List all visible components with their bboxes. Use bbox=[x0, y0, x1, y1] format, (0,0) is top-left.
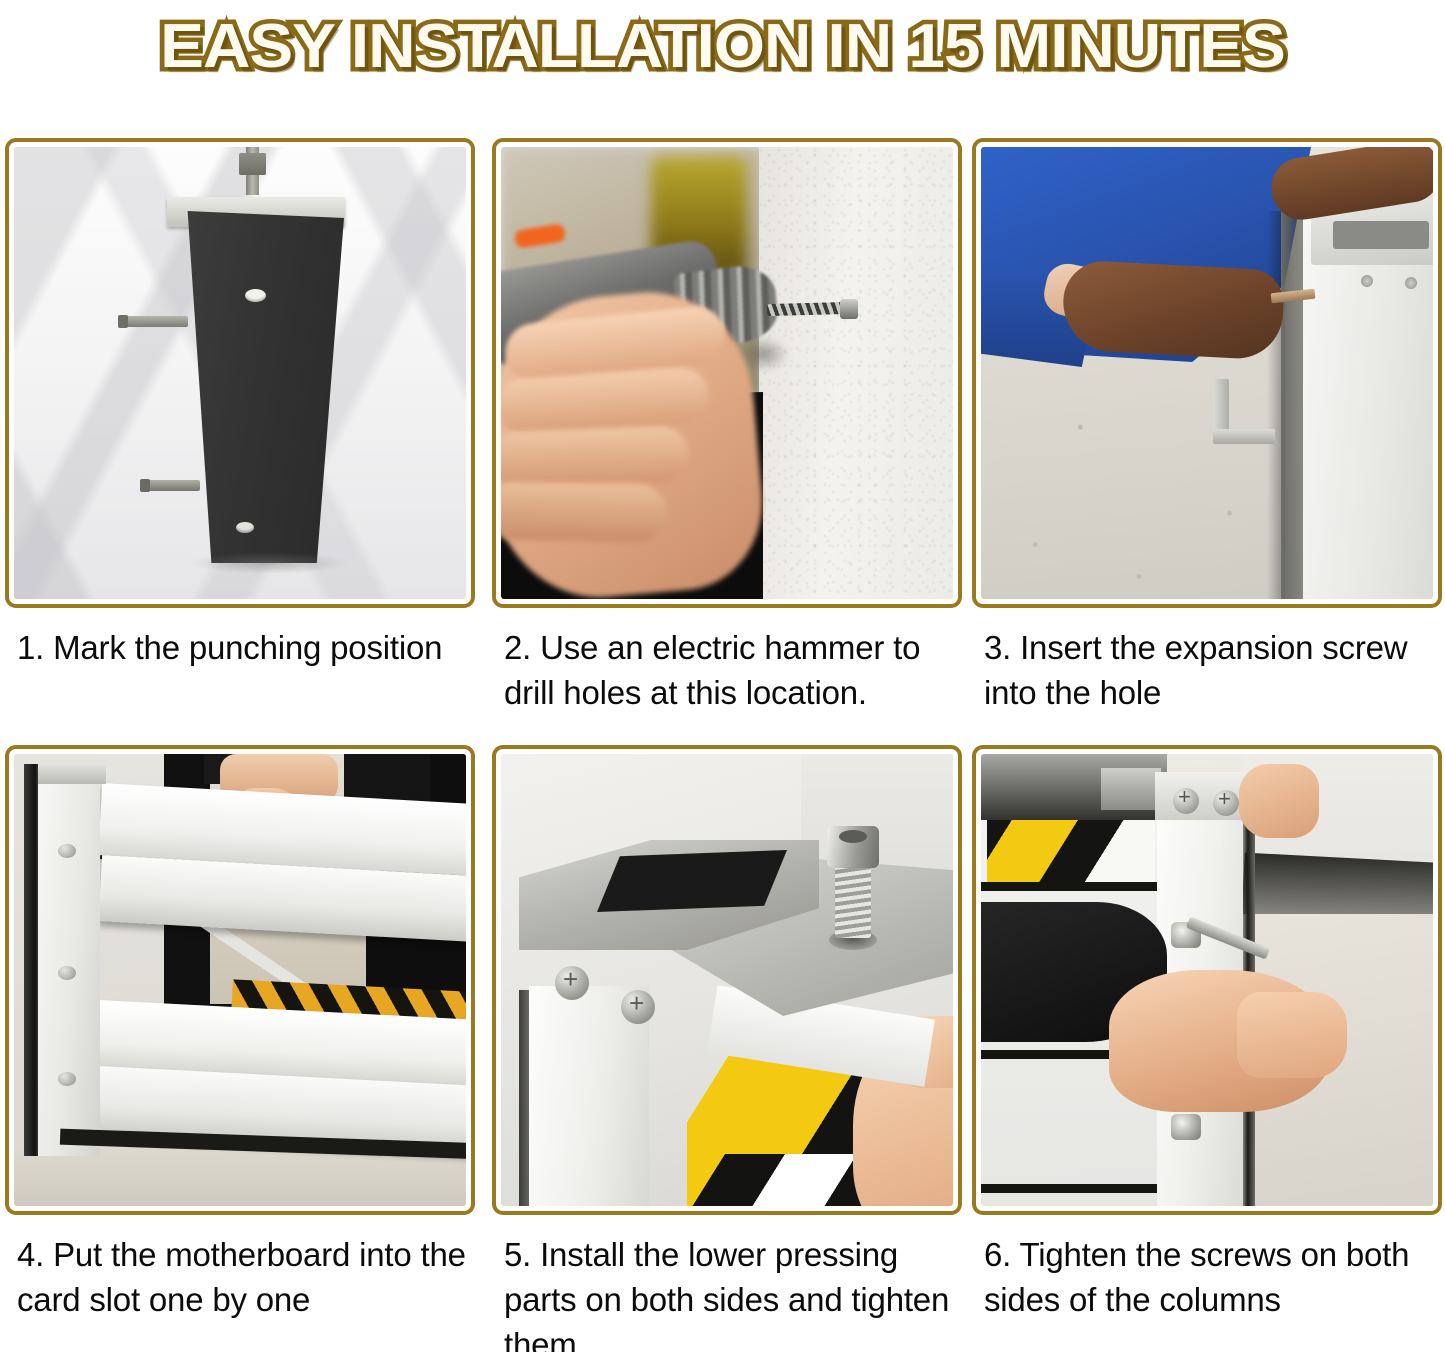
hazard-stripe bbox=[987, 820, 1155, 882]
step-1-photo-frame bbox=[5, 138, 475, 608]
step-card-6: 6. Tighten the screws on both sides of t… bbox=[972, 745, 1442, 1345]
board-gap-1 bbox=[981, 882, 1167, 891]
bracket-slot bbox=[597, 850, 787, 912]
step-1-caption: 1. Mark the punching position bbox=[17, 625, 479, 670]
bolt-head bbox=[827, 826, 879, 868]
bracket-shadow bbox=[189, 552, 349, 574]
fingers bbox=[1237, 992, 1347, 1078]
step-5-photo-frame bbox=[492, 745, 962, 1215]
nut bbox=[239, 153, 266, 175]
step-2-caption: 2. Use an electric hammer to drill holes… bbox=[504, 625, 966, 715]
cap-screw-1 bbox=[1173, 788, 1199, 814]
allen-key-icon bbox=[1213, 379, 1229, 441]
white-column bbox=[1303, 211, 1433, 599]
cap-screw-2 bbox=[1213, 790, 1239, 816]
drill-bit-tip bbox=[840, 299, 858, 319]
installation-guide-page: EASY INSTALLATION IN 15 MINUTES 1. bbox=[0, 0, 1445, 1352]
step-3-photo bbox=[981, 147, 1433, 599]
column-dark-edge bbox=[1281, 211, 1305, 599]
bracket-hole-upper bbox=[245, 289, 266, 302]
phillips-screw-2 bbox=[621, 990, 655, 1024]
bolt-lower bbox=[146, 480, 200, 491]
column-screw-lower bbox=[1171, 1114, 1201, 1140]
finger-4 bbox=[501, 481, 667, 542]
step-2-photo bbox=[501, 147, 953, 599]
steps-grid: 1. Mark the punching position bbox=[0, 0, 1445, 1352]
forearm bbox=[1061, 259, 1285, 360]
step-6-photo-frame bbox=[972, 745, 1442, 1215]
step-card-1: 1. Mark the punching position bbox=[5, 138, 475, 698]
step-1-photo bbox=[14, 147, 466, 599]
drill-bit bbox=[767, 302, 849, 316]
bolt-upper bbox=[124, 316, 188, 327]
bracket-hole-lower bbox=[236, 522, 254, 533]
white-column bbox=[38, 764, 100, 1156]
hex-bolt bbox=[827, 826, 879, 954]
step-6-photo bbox=[981, 754, 1433, 1206]
step-3-photo-frame bbox=[972, 138, 1442, 608]
step-card-3: 3. Insert the expansion screw into the h… bbox=[972, 138, 1442, 698]
step-card-5: 5. Install the lower pressing parts on b… bbox=[492, 745, 962, 1345]
column-cap bbox=[38, 764, 106, 784]
step-4-caption: 4. Put the motherboard into the card slo… bbox=[17, 1232, 479, 1322]
step-4-photo bbox=[14, 754, 466, 1206]
column-screw-b bbox=[1405, 277, 1417, 289]
hand-upper bbox=[1239, 764, 1319, 838]
textured-white-wall bbox=[759, 147, 953, 599]
step-5-caption: 5. Install the lower pressing parts on b… bbox=[504, 1232, 966, 1352]
phillips-screw-1 bbox=[555, 966, 589, 1000]
bolt-thread bbox=[835, 866, 871, 938]
step-5-photo bbox=[501, 754, 953, 1206]
column-cap-slot bbox=[1333, 221, 1429, 249]
board-gap-3 bbox=[981, 1184, 1167, 1193]
column-bolt-1 bbox=[58, 844, 76, 858]
bolt-hex-socket bbox=[839, 830, 867, 843]
column-screw-a bbox=[1361, 275, 1373, 287]
column-bolt-3 bbox=[58, 1072, 76, 1086]
step-card-4: 4. Put the motherboard into the card slo… bbox=[5, 745, 475, 1345]
step-3-caption: 3. Insert the expansion screw into the h… bbox=[984, 625, 1445, 715]
step-6-caption: 6. Tighten the screws on both sides of t… bbox=[984, 1232, 1445, 1322]
top-metal-piece bbox=[1101, 768, 1161, 810]
finger-3 bbox=[501, 426, 690, 489]
step-2-photo-frame bbox=[492, 138, 962, 608]
step-card-2: 2. Use an electric hammer to drill holes… bbox=[492, 138, 962, 698]
step-4-photo-frame bbox=[5, 745, 475, 1215]
column-bolt-2 bbox=[58, 966, 76, 980]
